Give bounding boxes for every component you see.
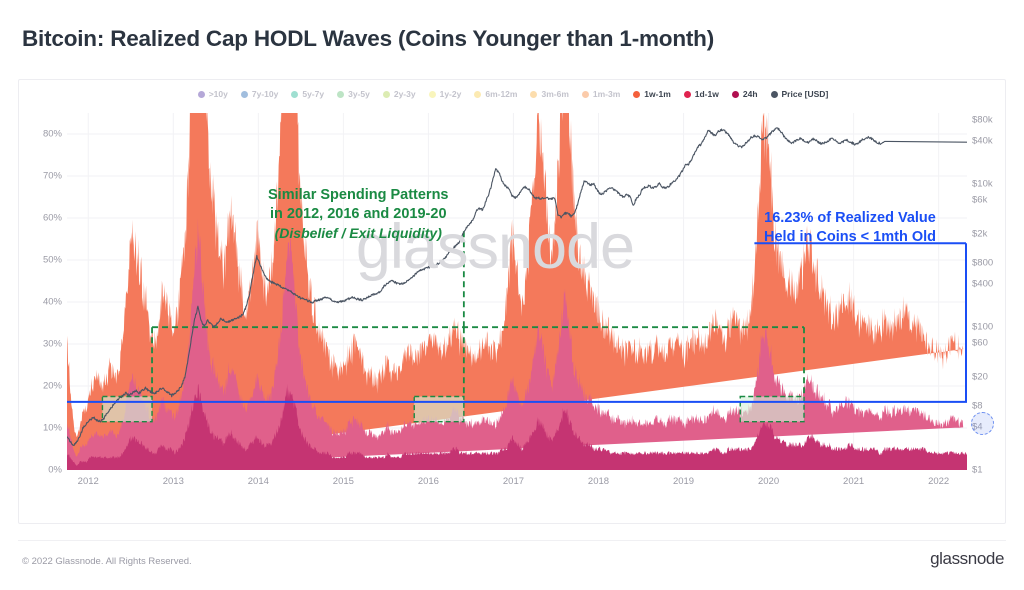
legend-label: Price [USD]	[782, 89, 829, 99]
legend-item--10y[interactable]: >10y	[198, 89, 228, 99]
chart-legend: >10y7y-10y5y-7y3y-5y2y-3y1y-2y6m-12m3m-6…	[19, 85, 1007, 103]
x-tick: 2020	[758, 476, 779, 487]
highlight-box	[740, 397, 804, 422]
legend-dot-icon	[291, 91, 298, 98]
y-tick-right: $10k	[972, 179, 993, 190]
x-tick: 2018	[588, 476, 609, 487]
legend-item-2y-3y[interactable]: 2y-3y	[383, 89, 416, 99]
legend-label: 2y-3y	[394, 89, 416, 99]
y-tick-left: 80%	[43, 129, 62, 140]
y-tick-left: 40%	[43, 297, 62, 308]
legend-label: 3m-6m	[541, 89, 568, 99]
x-axis: 2012201320142015201620172018201920202021…	[67, 476, 967, 492]
y-tick-right: $400	[972, 279, 993, 290]
legend-item-1m-3m[interactable]: 1m-3m	[582, 89, 620, 99]
legend-item-1y-2y[interactable]: 1y-2y	[429, 89, 462, 99]
legend-label: 1m-3m	[593, 89, 620, 99]
y-tick-right: $800	[972, 257, 993, 268]
y-tick-left: 60%	[43, 213, 62, 224]
y-tick-left: 10%	[43, 423, 62, 434]
chart-card: >10y7y-10y5y-7y3y-5y2y-3y1y-2y6m-12m3m-6…	[18, 79, 1006, 524]
x-tick: 2013	[163, 476, 184, 487]
footer-copyright: © 2022 Glassnode. All Rights Reserved.	[22, 556, 192, 567]
legend-dot-icon	[771, 91, 778, 98]
chart-page: Bitcoin: Realized Cap HODL Waves (Coins …	[0, 0, 1024, 590]
footer-logo: glassnode	[930, 549, 1004, 569]
legend-dot-icon	[530, 91, 537, 98]
legend-dot-icon	[429, 91, 436, 98]
y-axis-right: $1$4$8$20$60$100$400$800$2k$6k$10k$40k$8…	[972, 113, 1012, 470]
y-tick-right: $4	[972, 422, 983, 433]
y-tick-left: 70%	[43, 171, 62, 182]
legend-dot-icon	[474, 91, 481, 98]
legend-dot-icon	[383, 91, 390, 98]
y-tick-left: 20%	[43, 381, 62, 392]
legend-item-3m-6m[interactable]: 3m-6m	[530, 89, 568, 99]
legend-label: 5y-7y	[302, 89, 324, 99]
y-tick-left: 50%	[43, 255, 62, 266]
legend-label: 7y-10y	[252, 89, 278, 99]
x-tick: 2016	[418, 476, 439, 487]
legend-item-3y-5y[interactable]: 3y-5y	[337, 89, 370, 99]
legend-dot-icon	[337, 91, 344, 98]
highlight-box	[414, 397, 464, 422]
legend-dot-icon	[198, 91, 205, 98]
y-tick-left: 30%	[43, 339, 62, 350]
y-tick-right: $2k	[972, 229, 987, 240]
legend-item-6m-12m[interactable]: 6m-12m	[474, 89, 517, 99]
y-tick-right: $20	[972, 372, 988, 383]
legend-item-24h[interactable]: 24h	[732, 89, 758, 99]
chart-svg	[67, 113, 967, 470]
y-tick-right: $8	[972, 400, 983, 411]
y-tick-right: $100	[972, 322, 993, 333]
y-tick-right: $1	[972, 465, 983, 476]
page-title: Bitcoin: Realized Cap HODL Waves (Coins …	[22, 26, 714, 52]
y-tick-left: 0%	[48, 465, 62, 476]
legend-dot-icon	[732, 91, 739, 98]
legend-label: 3y-5y	[348, 89, 370, 99]
legend-label: >10y	[209, 89, 228, 99]
x-tick: 2022	[928, 476, 949, 487]
plot-area[interactable]: glassnode	[67, 113, 967, 470]
y-tick-right: $60	[972, 338, 988, 349]
x-tick: 2015	[333, 476, 354, 487]
legend-item-1w-1m[interactable]: 1w-1m	[633, 89, 670, 99]
legend-item-5y-7y[interactable]: 5y-7y	[291, 89, 324, 99]
legend-item-7y-10y[interactable]: 7y-10y	[241, 89, 278, 99]
y-tick-right: $6k	[972, 195, 987, 206]
legend-dot-icon	[241, 91, 248, 98]
legend-item-price-usd-[interactable]: Price [USD]	[771, 89, 829, 99]
legend-dot-icon	[633, 91, 640, 98]
legend-label: 24h	[743, 89, 758, 99]
y-tick-right: $80k	[972, 114, 993, 125]
legend-dot-icon	[582, 91, 589, 98]
y-axis-left: 0%10%20%30%40%50%60%70%80%	[31, 113, 62, 470]
y-tick-right: $40k	[972, 136, 993, 147]
x-tick: 2012	[78, 476, 99, 487]
legend-label: 1w-1m	[644, 89, 670, 99]
legend-label: 6m-12m	[485, 89, 517, 99]
x-tick: 2021	[843, 476, 864, 487]
legend-dot-icon	[684, 91, 691, 98]
x-tick: 2014	[248, 476, 269, 487]
legend-item-1d-1w[interactable]: 1d-1w	[684, 89, 719, 99]
legend-label: 1y-2y	[440, 89, 462, 99]
footer-divider	[18, 540, 1006, 541]
x-tick: 2017	[503, 476, 524, 487]
x-tick: 2019	[673, 476, 694, 487]
legend-label: 1d-1w	[695, 89, 719, 99]
